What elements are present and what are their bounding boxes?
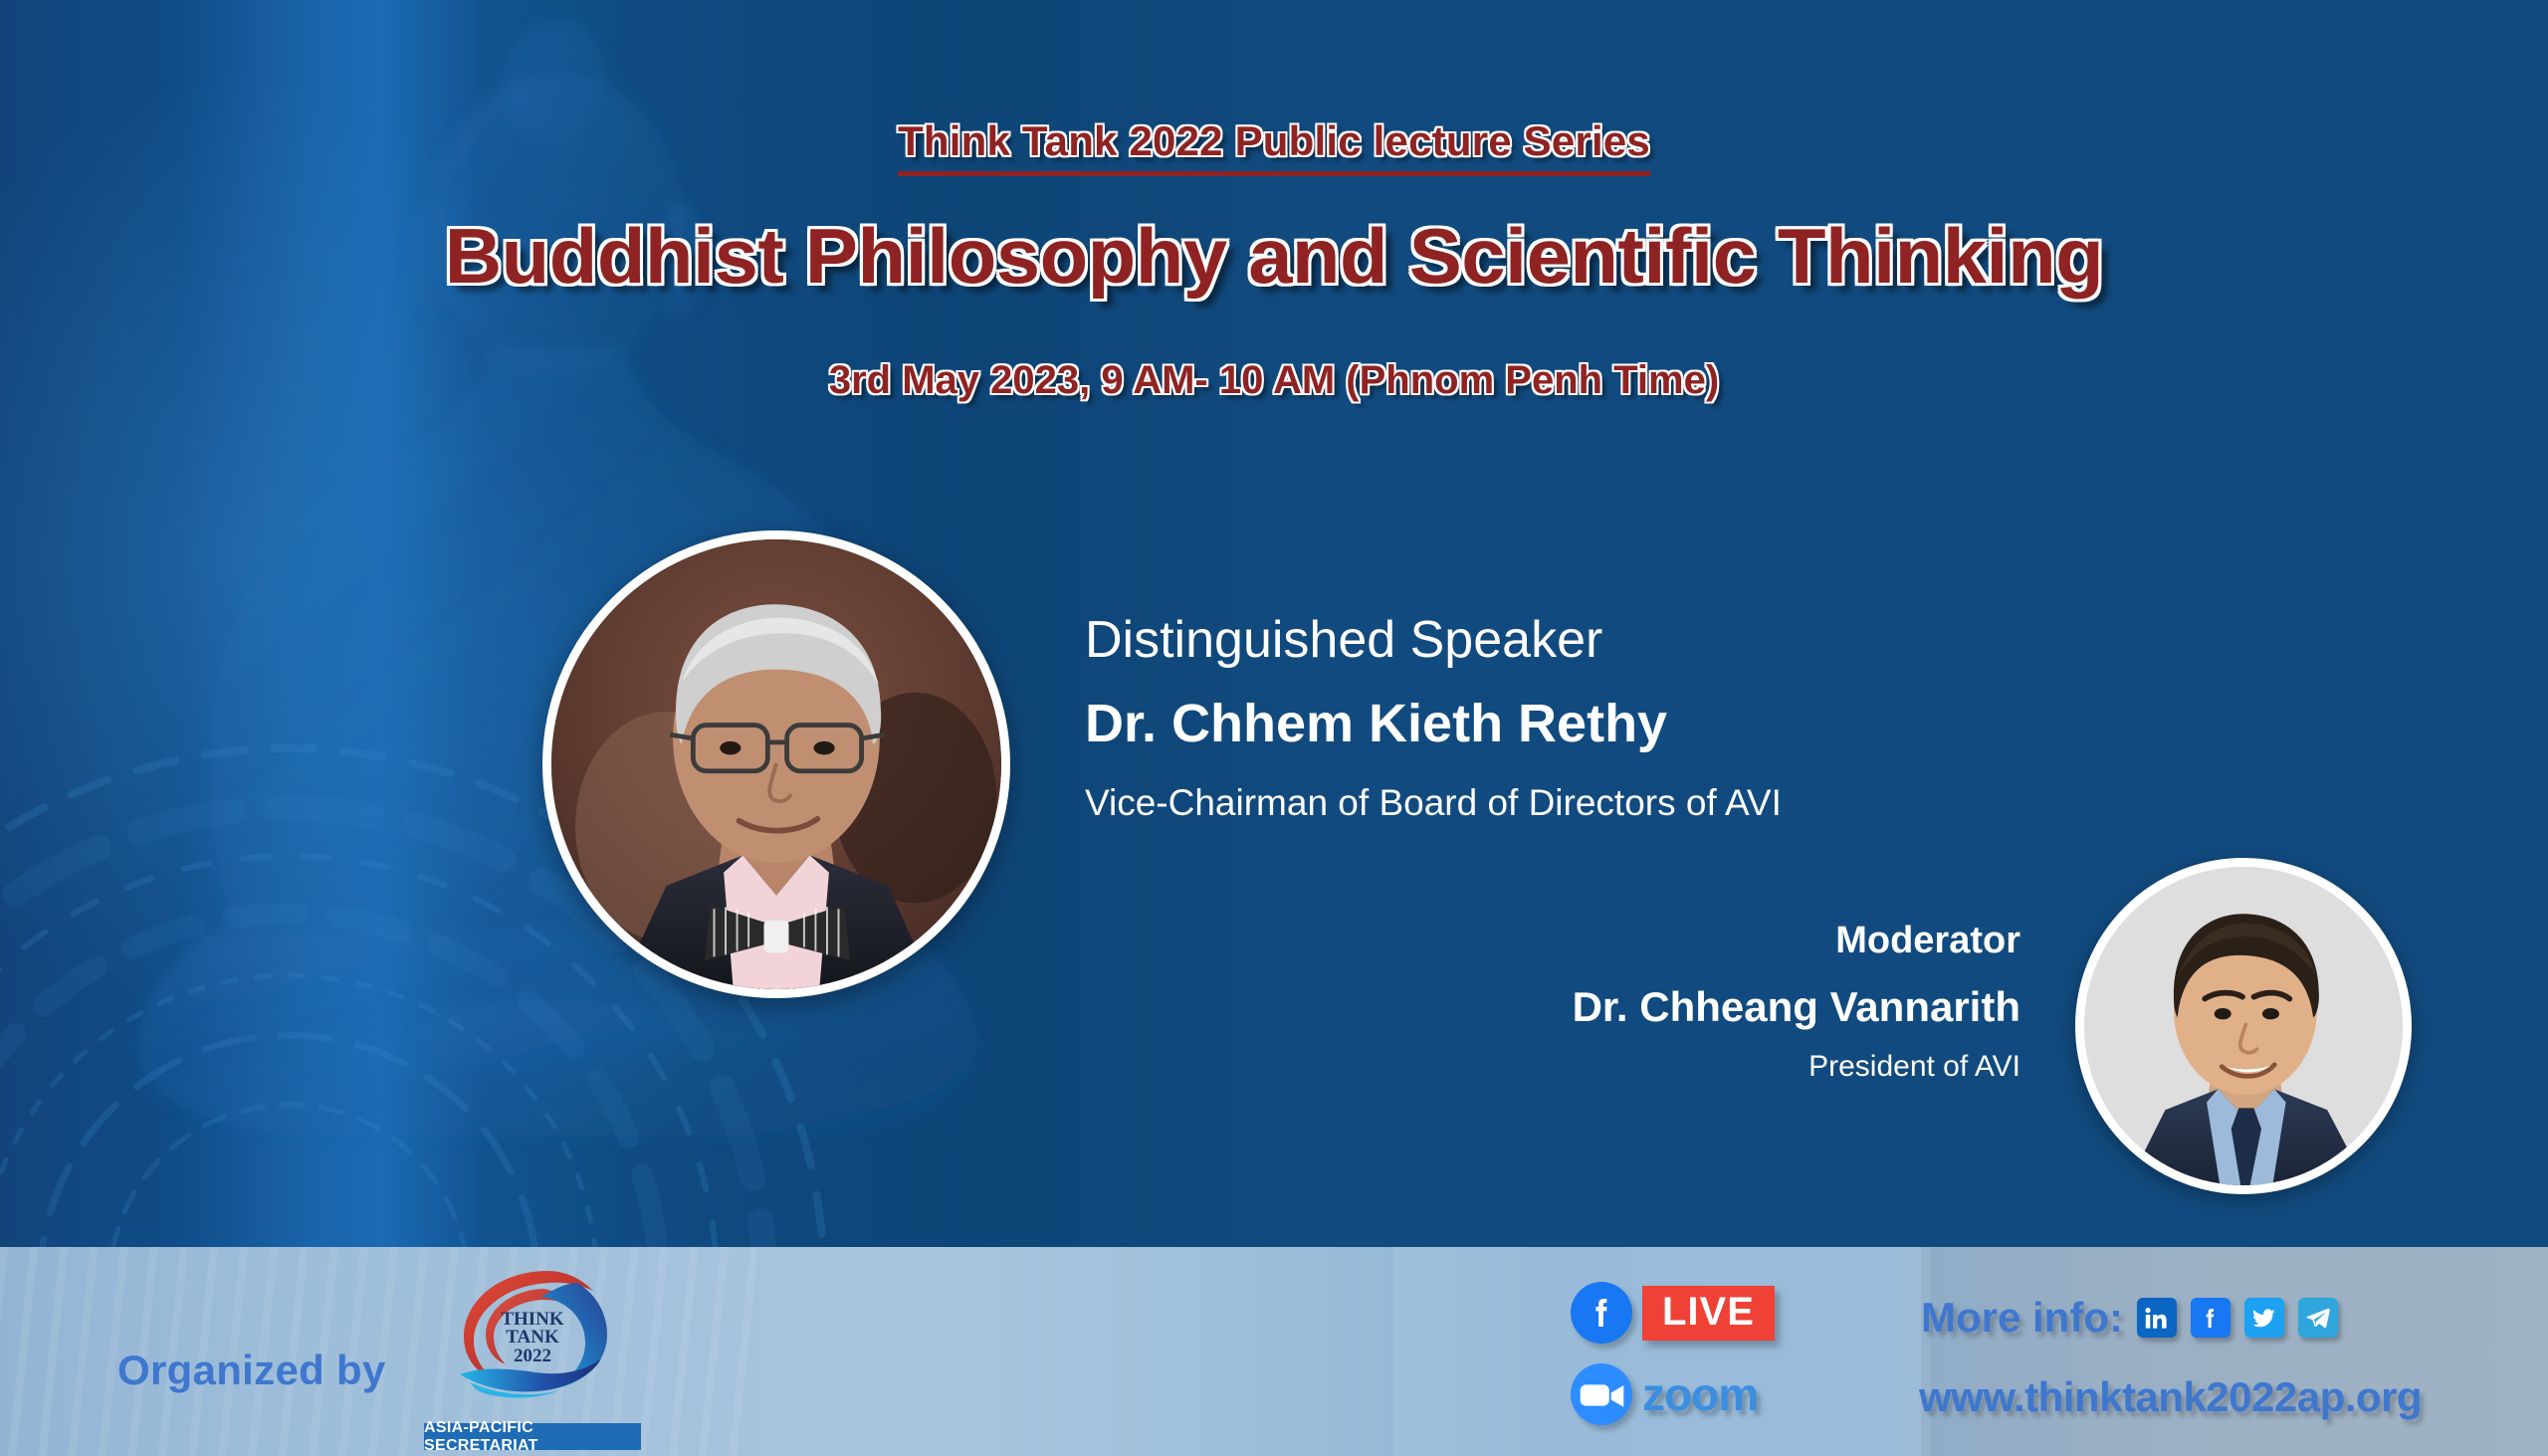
facebook-icon[interactable] [2191, 1298, 2230, 1338]
series-kicker-text: Think Tank 2022 Public lecture Series [898, 117, 1650, 176]
organized-by-label: Organized by [117, 1347, 386, 1394]
event-datetime: 3rd May 2023, 9 AM- 10 AM (Phnom Penh Ti… [0, 358, 2548, 403]
facebook-live-block[interactable]: LIVE [1571, 1282, 1775, 1344]
moderator-info: Moderator Dr. Chheang Vannarith Presiden… [1184, 921, 2020, 1083]
logo-ribbon: ASIA-PACIFIC SECRETARIAT [424, 1423, 641, 1450]
footer-shade-right [1921, 1247, 2548, 1456]
more-info-label: More info: [1921, 1294, 2123, 1342]
speaker-role: Distinguished Speaker [1085, 612, 1981, 669]
website-url[interactable]: www.thinktank2022ap.org [1919, 1373, 2422, 1421]
moderator-title: President of AVI [1184, 1050, 2020, 1083]
series-kicker: Think Tank 2022 Public lecture Series [0, 117, 2548, 176]
speaker-avatar [542, 530, 1010, 998]
video-camera-icon[interactable] [1571, 1363, 1632, 1425]
speaker-info: Distinguished Speaker Dr. Chhem Kieth Re… [1085, 612, 1981, 824]
svg-text:TANK: TANK [506, 1327, 559, 1348]
speaker-title: Vice-Chairman of Board of Directors of A… [1085, 782, 1981, 825]
facebook-icon[interactable] [1571, 1282, 1632, 1344]
moderator-role: Moderator [1184, 921, 2020, 962]
linkedin-icon[interactable] [2137, 1298, 2177, 1338]
live-badge: LIVE [1642, 1286, 1775, 1341]
more-info-block: More info: [1921, 1294, 2338, 1342]
svg-text:2022: 2022 [514, 1346, 551, 1366]
page-title: Buddhist Philosophy and Scientific Think… [0, 211, 2548, 302]
moderator-avatar [2075, 858, 2412, 1194]
zoom-wordmark: zoom [1642, 1371, 1758, 1417]
telegram-icon[interactable] [2298, 1298, 2338, 1338]
zoom-block[interactable]: zoom [1571, 1363, 1758, 1425]
think-tank-logo: THINK TANK 2022 [438, 1267, 627, 1401]
twitter-icon[interactable] [2244, 1298, 2284, 1338]
speaker-name: Dr. Chhem Kieth Rethy [1085, 695, 1981, 753]
moderator-name: Dr. Chheang Vannarith [1184, 984, 2020, 1030]
event-poster: Think Tank 2022 Public lecture Series Bu… [0, 0, 2548, 1456]
